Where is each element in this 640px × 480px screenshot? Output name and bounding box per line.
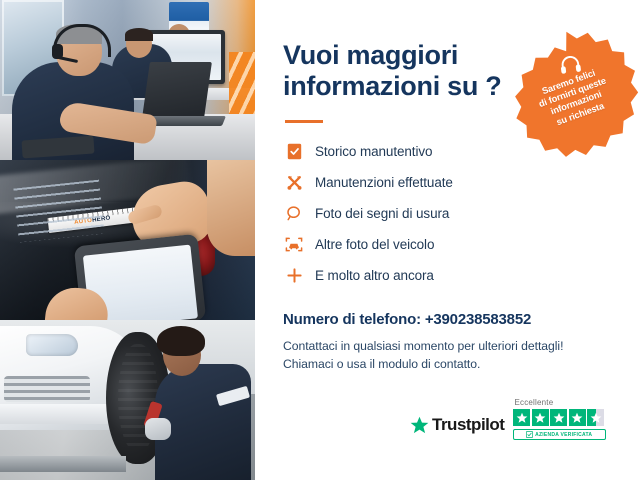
tools-cross-icon bbox=[283, 174, 305, 191]
promo-banner: AUTOHERO Vuoi bbox=[0, 0, 640, 480]
car-grille bbox=[4, 376, 90, 402]
mechanic-glove bbox=[145, 418, 171, 440]
list-item-label: E molto altro ancora bbox=[315, 268, 434, 283]
star-filled bbox=[550, 409, 567, 426]
list-item-label: Altre foto del veicolo bbox=[315, 237, 434, 252]
verified-check-icon bbox=[526, 431, 533, 438]
list-item-label: Storico manutentivo bbox=[315, 144, 432, 159]
car-headlight bbox=[26, 334, 78, 356]
headline-line-2: informazioni su ? bbox=[283, 71, 501, 101]
starburst-shape bbox=[502, 21, 640, 168]
request-info-badge: Saremo felici di fornirti queste informa… bbox=[502, 21, 640, 168]
list-item: Foto dei segni di usura bbox=[283, 201, 640, 227]
list-item-label: Foto dei segni di usura bbox=[315, 206, 449, 221]
trustpilot-logo[interactable]: Trustpilot bbox=[410, 415, 504, 435]
trustpilot-score-block: Eccellente bbox=[513, 398, 606, 440]
phone-number-line: Numero di telefono: +390238583852 bbox=[283, 311, 640, 328]
list-item: E molto altro ancora bbox=[283, 263, 640, 289]
star-filled bbox=[513, 409, 530, 426]
car-scan-icon bbox=[283, 236, 305, 253]
inspector-forearm bbox=[207, 160, 255, 256]
photo-column: AUTOHERO bbox=[0, 0, 255, 480]
title-divider bbox=[285, 120, 323, 123]
list-item-label: Manutenzioni effettuate bbox=[315, 175, 453, 190]
agent-two-hair bbox=[125, 28, 153, 41]
trustpilot-stars bbox=[513, 409, 606, 426]
feature-list: Storico manutentivo Manutenzi bbox=[283, 139, 640, 289]
workshop-lift-arm bbox=[0, 456, 126, 472]
star-half bbox=[587, 409, 604, 426]
autohero-inspection-ruler-photo: AUTOHERO bbox=[0, 160, 255, 320]
star-filled bbox=[569, 409, 586, 426]
list-item: Manutenzioni effettuate bbox=[283, 170, 640, 196]
tablet-form-lines bbox=[13, 180, 104, 243]
trustpilot-wordmark: Trustpilot bbox=[432, 415, 504, 435]
call-center-agents-photo bbox=[0, 0, 255, 160]
mechanic-hair bbox=[157, 326, 205, 356]
trustpilot-rating-label: Eccellente bbox=[514, 398, 553, 407]
mechanic-wheel-inspection-photo bbox=[0, 320, 255, 480]
verified-company-text: AZIENDA VERIFICATA bbox=[535, 432, 592, 438]
contact-line-1: Contattaci in qualsiasi momento per ulte… bbox=[283, 337, 640, 355]
car-bumper bbox=[0, 404, 116, 424]
laptop-screen bbox=[142, 62, 212, 118]
document-check-icon bbox=[283, 143, 305, 160]
trustpilot-star-icon bbox=[410, 416, 429, 435]
page-title: Vuoi maggiori informazioni su ? bbox=[283, 40, 518, 103]
headline-line-1: Vuoi maggiori bbox=[283, 40, 458, 70]
contact-text: Contattaci in qualsiasi momento per ulte… bbox=[283, 337, 640, 374]
star-filled bbox=[532, 409, 549, 426]
content-panel: Vuoi maggiori informazioni su ? Storico … bbox=[255, 0, 640, 480]
contact-line-2: Chiamaci o usa il modulo di contatto. bbox=[283, 355, 640, 373]
list-item: Altre foto del veicolo bbox=[283, 232, 640, 258]
verified-company-badge: AZIENDA VERIFICATA bbox=[513, 429, 606, 440]
magnifier-icon bbox=[283, 205, 305, 222]
plus-icon bbox=[283, 267, 305, 284]
trustpilot-rating[interactable]: Trustpilot Eccellente bbox=[410, 398, 606, 440]
